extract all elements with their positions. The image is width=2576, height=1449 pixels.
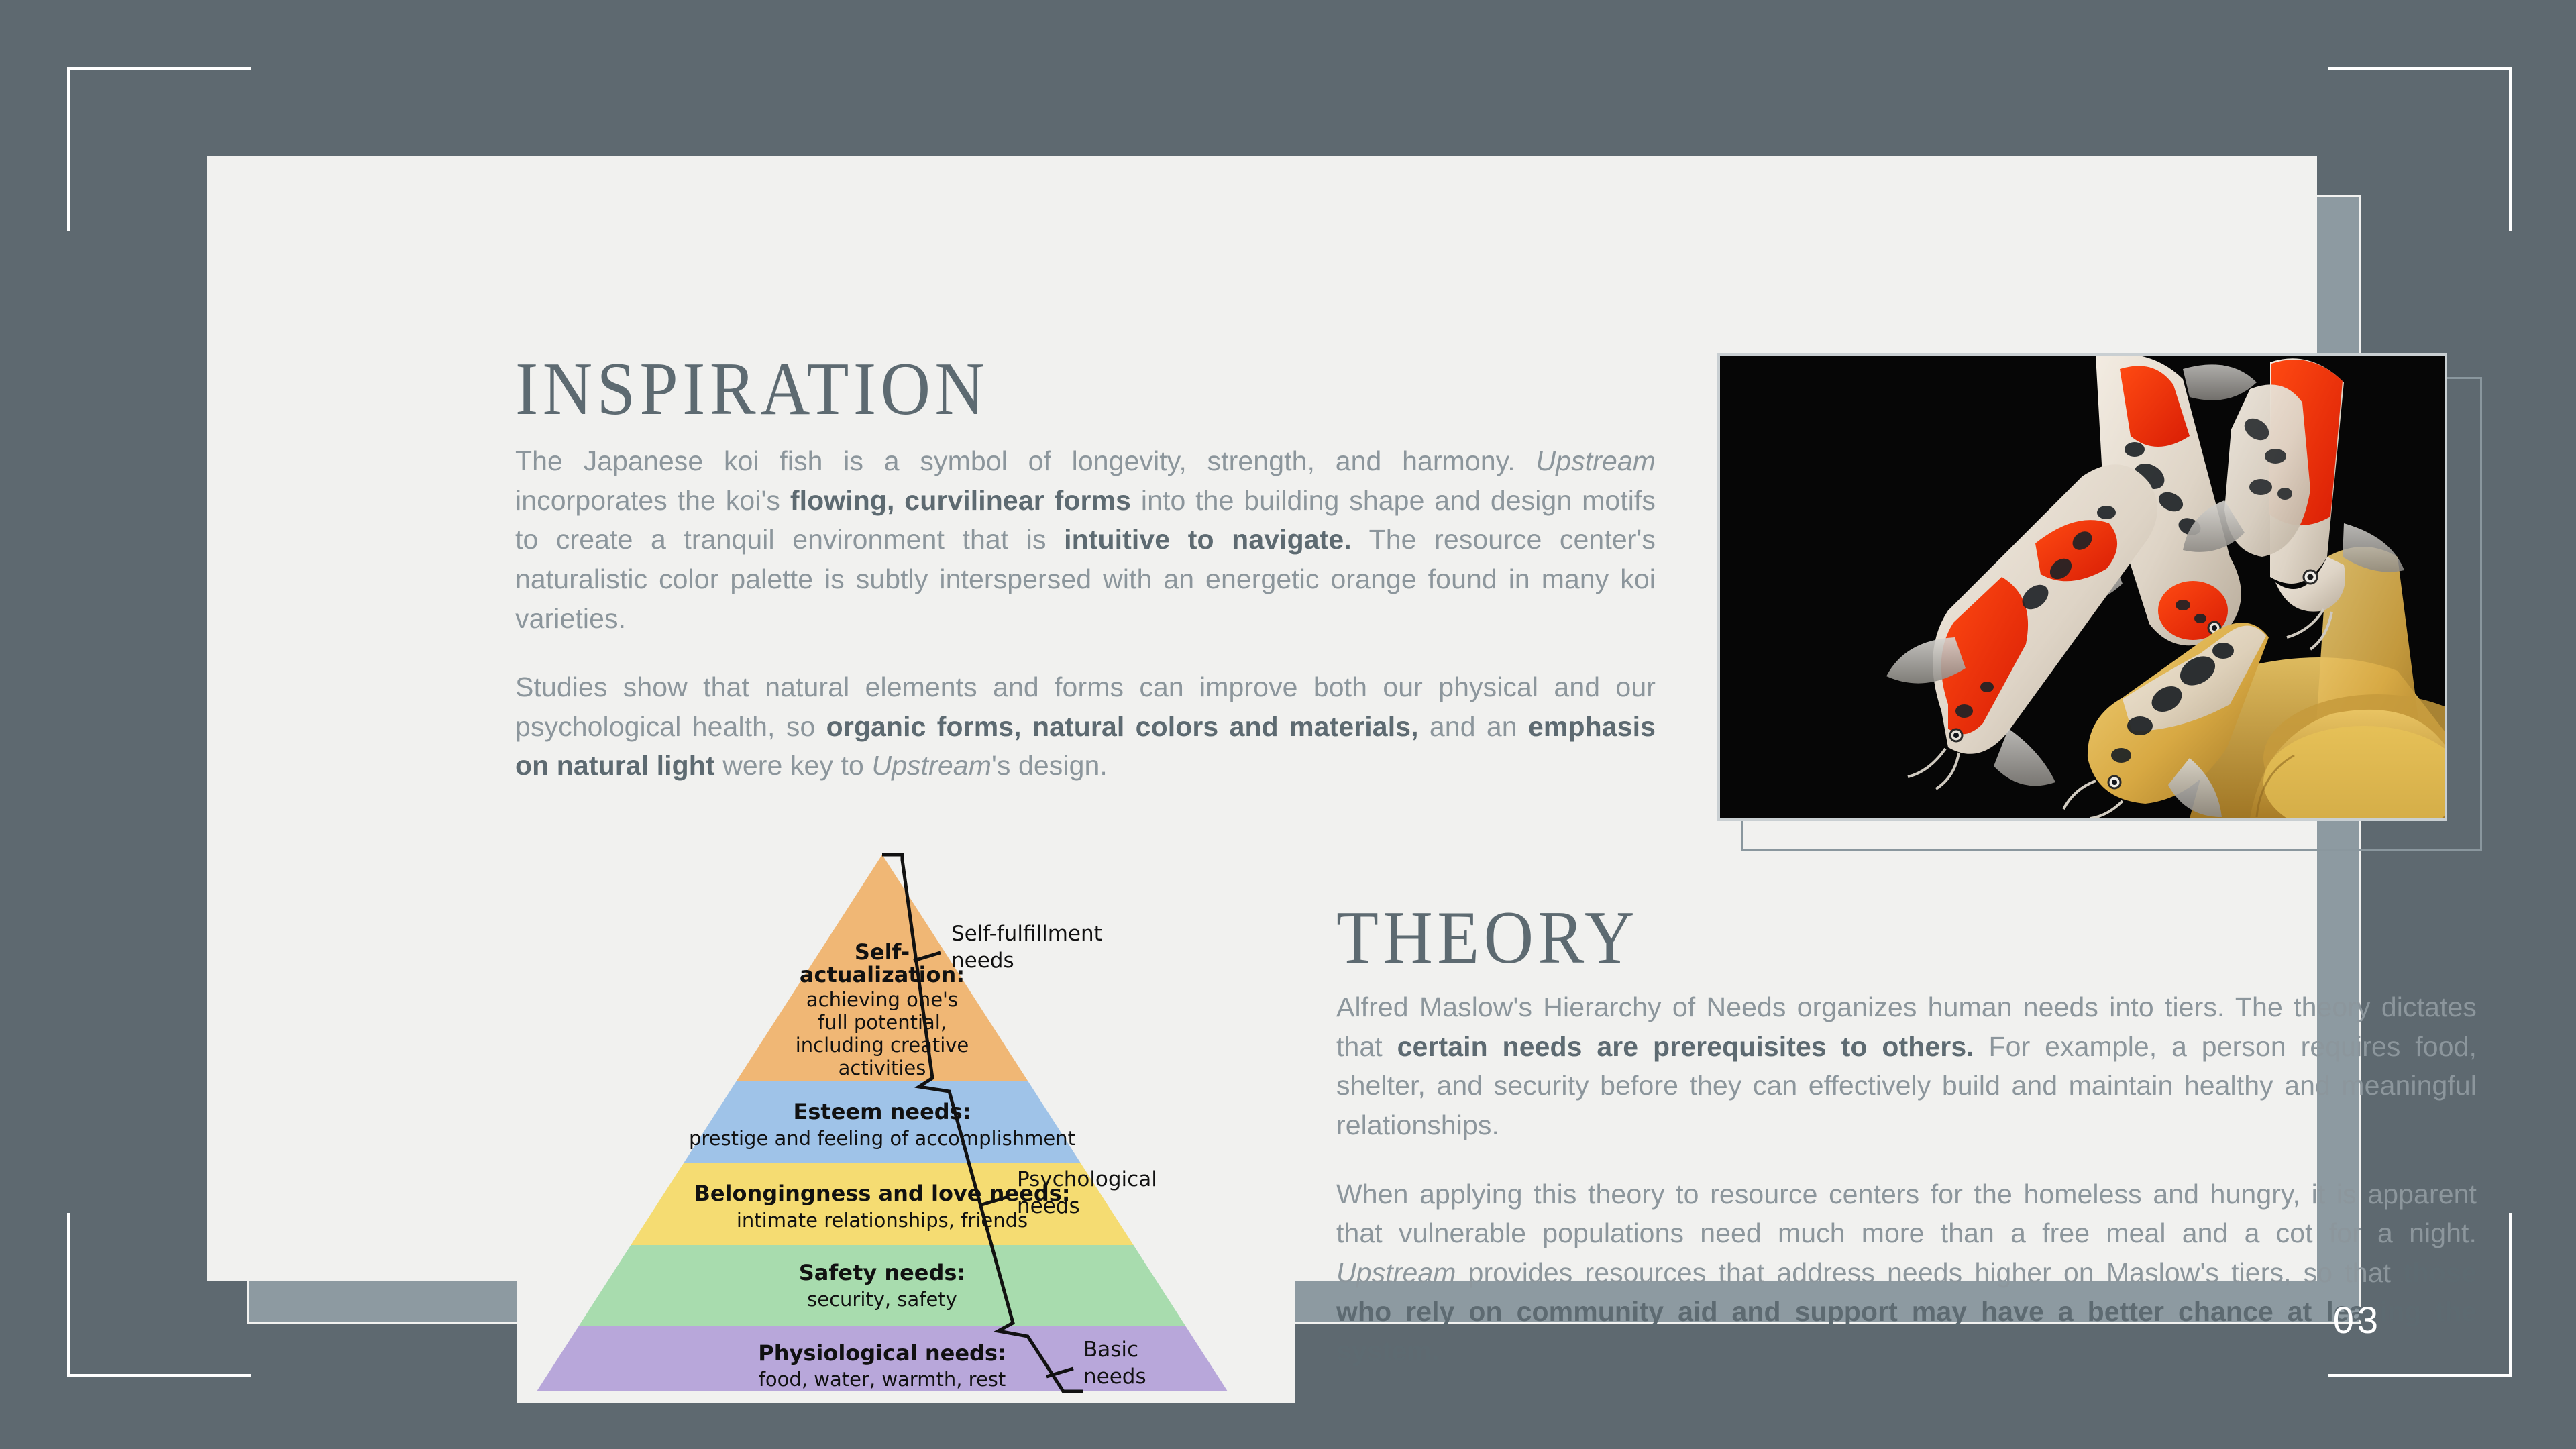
inspiration-title: INSPIRATION	[515, 352, 1570, 427]
slide-card: INSPIRATION The Japanese koi fish is a s…	[207, 156, 2317, 1281]
theory-paragraph-1: Alfred Maslow's Hierarchy of Needs organ…	[1336, 987, 2477, 1145]
svg-text:achieving one's: achieving one's	[806, 988, 958, 1011]
svg-text:Self-fulfillment: Self-fulfillment	[951, 922, 1102, 946]
inspiration-paragraph-1: The Japanese koi fish is a symbol of lon…	[515, 441, 1656, 638]
svg-text:including creative: including creative	[796, 1034, 969, 1057]
theory-section: THEORY Alfred Maslow's Hierarchy of Need…	[1336, 900, 2477, 1371]
theory-title: THEORY	[1336, 900, 2385, 975]
svg-text:needs: needs	[1017, 1194, 1080, 1218]
koi-photo	[1717, 353, 2447, 821]
svg-text:needs: needs	[951, 949, 1014, 973]
svg-text:needs: needs	[1083, 1364, 1146, 1389]
svg-text:Safety needs:: Safety needs:	[799, 1260, 966, 1285]
svg-text:Esteem needs:: Esteem needs:	[793, 1099, 971, 1124]
svg-text:Psychological: Psychological	[1017, 1167, 1157, 1191]
svg-text:prestige and feeling of accomp: prestige and feeling of accomplishment	[689, 1127, 1075, 1150]
svg-text:Physiological needs:: Physiological needs:	[758, 1340, 1006, 1366]
tier-label-physiological: Physiological needs: food, water, warmth…	[758, 1340, 1006, 1391]
inspiration-section: INSPIRATION The Japanese koi fish is a s…	[515, 352, 1662, 786]
svg-text:actualization:: actualization:	[800, 962, 965, 987]
inspiration-paragraph-2: Studies show that natural elements and f…	[515, 667, 1656, 786]
svg-text:security, safety: security, safety	[807, 1288, 957, 1311]
maslow-hierarchy-pyramid: Self- actualization: achieving one's ful…	[517, 840, 1295, 1403]
svg-text:food, water, warmth, rest: food, water, warmth, rest	[759, 1368, 1006, 1391]
svg-text:Belongingness and love needs:: Belongingness and love needs:	[694, 1181, 1070, 1206]
svg-text:activities: activities	[839, 1057, 926, 1079]
theory-body: Alfred Maslow's Hierarchy of Needs organ…	[1336, 987, 2477, 1371]
page-number: 03	[2333, 1298, 2381, 1342]
svg-text:Basic: Basic	[1083, 1338, 1138, 1362]
theory-paragraph-2: When applying this theory to resource ce…	[1336, 1175, 2477, 1371]
svg-text:Self-: Self-	[855, 939, 910, 965]
inspiration-body: The Japanese koi fish is a symbol of lon…	[515, 441, 1656, 786]
